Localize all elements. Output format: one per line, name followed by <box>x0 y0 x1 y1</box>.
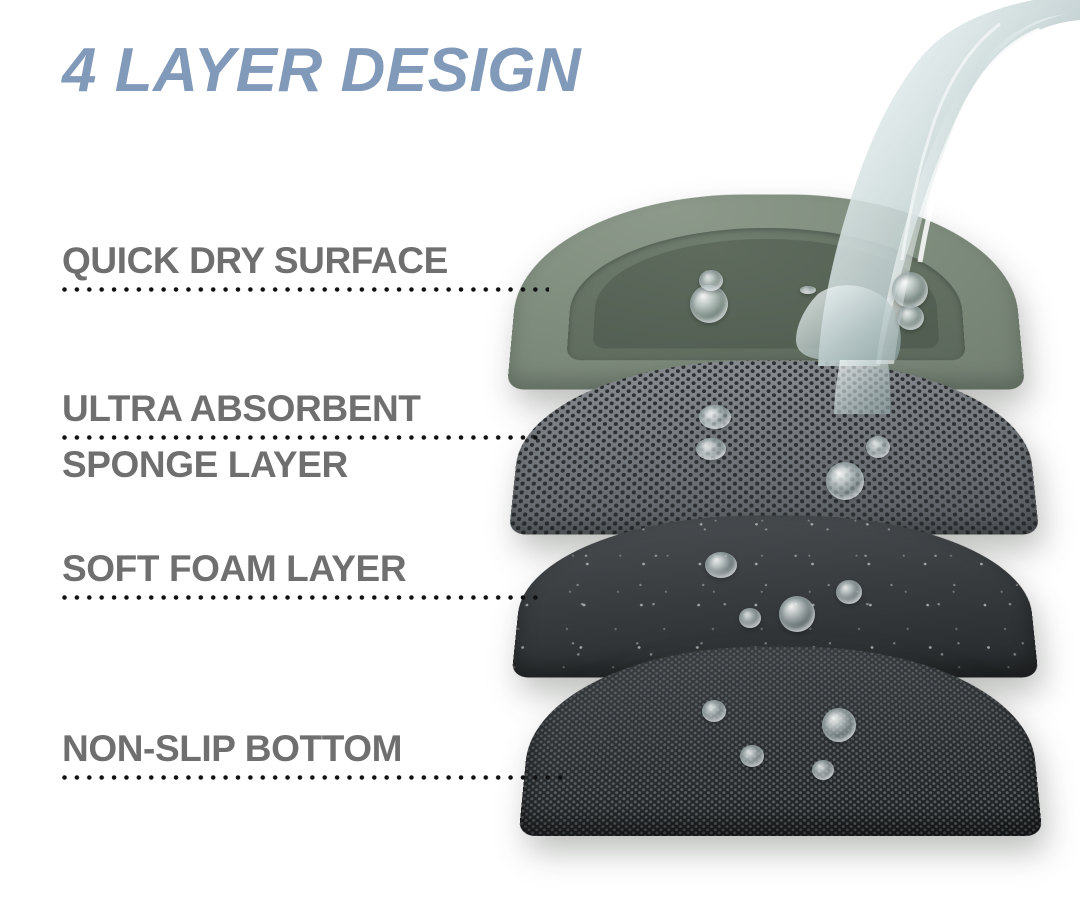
water-droplet <box>836 580 862 604</box>
callout-leader-dotted-line <box>62 775 562 780</box>
layer-3-soft-foam <box>520 508 1030 680</box>
water-stream-specular-2 <box>902 24 1000 260</box>
layer-1-body <box>507 194 1025 389</box>
callout-leader-dotted-line <box>62 595 542 600</box>
water-stream-specular-1 <box>920 30 1040 262</box>
water-droplet <box>812 760 834 780</box>
water-stream-graphic <box>700 0 1080 414</box>
water-column-lower <box>834 360 890 414</box>
water-splash-top <box>796 285 901 360</box>
callout-label-line: ULTRA ABSORBENT <box>62 388 542 429</box>
callout-leader-dotted-line <box>62 287 549 292</box>
layer-2-shape <box>518 352 1030 537</box>
layer-4-shape <box>528 638 1033 838</box>
callout-leader-dotted-line <box>62 435 542 440</box>
callout-label-line: QUICK DRY SURFACE <box>62 240 549 281</box>
water-droplet <box>699 270 723 291</box>
water-droplet <box>800 286 816 294</box>
layer-3-shape <box>520 508 1030 680</box>
callout-ultra-absorbent-sponge-layer: ULTRA ABSORBENT SPONGE LAYER <box>62 388 542 486</box>
layer-1-shape <box>516 186 1016 391</box>
water-droplet <box>739 608 761 628</box>
page-title: 4 LAYER DESIGN <box>62 38 581 103</box>
water-droplet <box>826 462 864 500</box>
layer-3-body <box>511 516 1038 678</box>
layer-2-body <box>509 361 1040 535</box>
water-droplet <box>822 708 856 742</box>
water-droplet <box>699 405 731 429</box>
water-droplet <box>696 438 726 460</box>
callout-non-slip-bottom: NON-SLIP BOTTOM <box>62 728 562 784</box>
callout-label-line: SOFT FOAM LAYER <box>62 548 542 589</box>
water-droplet <box>779 596 815 632</box>
water-droplet <box>702 700 726 722</box>
callout-quick-dry-surface: QUICK DRY SURFACE <box>62 240 549 296</box>
layer-4-non-slip-bottom <box>528 638 1033 838</box>
layer-4-body <box>519 647 1043 836</box>
infographic-page: 4 LAYER DESIGN <box>0 0 1080 900</box>
layer-2-sponge <box>518 352 1030 537</box>
callout-label-line: NON-SLIP BOTTOM <box>62 728 562 769</box>
layer-1-inset-ring-outer <box>566 228 966 361</box>
layer-1-quick-dry-surface <box>516 186 1016 391</box>
water-droplet <box>892 272 928 308</box>
water-droplet <box>740 745 764 767</box>
layer-1-inset-ring-inner <box>593 239 940 348</box>
callout-label-line: SPONGE LAYER <box>62 444 542 485</box>
water-droplet <box>705 552 737 578</box>
water-droplet <box>897 305 924 330</box>
water-stream-body <box>818 0 1080 366</box>
water-droplet <box>690 285 728 323</box>
callout-soft-foam-layer: SOFT FOAM LAYER <box>62 548 542 604</box>
water-stream-highlight <box>876 14 1066 364</box>
water-droplet <box>866 436 890 458</box>
